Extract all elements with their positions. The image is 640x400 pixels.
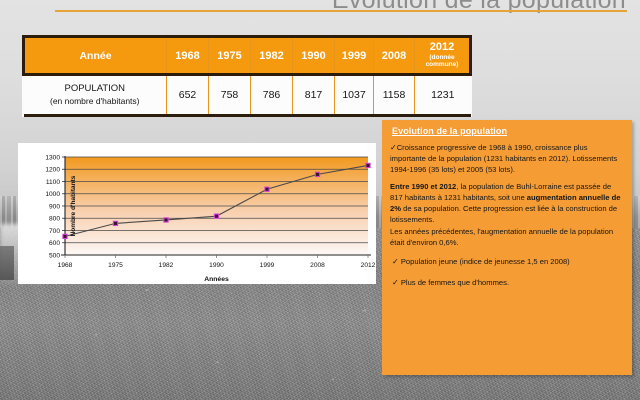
- y-tick-800: 800: [49, 216, 60, 223]
- header-cell-2012: 2012 (donnée commune): [415, 37, 471, 75]
- header-2012-note-2: commune): [415, 62, 469, 69]
- header-cell-1999: 1999: [335, 37, 374, 75]
- info-item-femmes-hommes-text: Plus de femmes que d'hommes.: [401, 278, 509, 287]
- info-item-croissance-text: Croissance progressive de 1968 à 1990, c…: [390, 143, 617, 174]
- slide-title-area: Evolution de la population: [0, 0, 640, 14]
- cell-value-2008: 1158: [374, 75, 415, 116]
- info-item-entre-1990-2012: Entre 1990 et 2012, la population de Buh…: [390, 182, 624, 225]
- cell-value-1975: 758: [209, 75, 251, 116]
- left-edge-artifact: [0, 246, 14, 280]
- x-tick-1975: 1975: [108, 262, 123, 269]
- y-tick-700: 700: [49, 228, 60, 235]
- info-item-population-jeune-text: Population jeune (indice de jeunesse 1,5…: [401, 257, 570, 266]
- data-point-1982: [164, 218, 168, 222]
- header-2012-note-1: (donnée: [415, 55, 469, 62]
- x-tick-1990: 1990: [209, 262, 224, 269]
- cell-value-1990: 817: [293, 75, 335, 116]
- x-tick-1982: 1982: [159, 262, 174, 269]
- data-point-1990: [214, 214, 218, 218]
- header-cell-1982: 1982: [251, 37, 293, 75]
- y-tick-900: 900: [49, 203, 60, 210]
- check-icon-3: ✓: [392, 278, 399, 287]
- info-text-2: de sa population. Cette progression est …: [390, 204, 617, 224]
- y-tick-1100: 1100: [46, 179, 61, 186]
- header-cell-1990: 1990: [293, 37, 335, 75]
- data-point-1999: [265, 187, 269, 191]
- header-cell-1968: 1968: [167, 37, 209, 75]
- x-tick-1968: 1968: [58, 262, 73, 269]
- data-point-1968: [63, 234, 67, 238]
- info-panel-title: Evolution de la population: [392, 126, 624, 136]
- info-item-femmes-hommes: ✓ Plus de femmes que d'hommes.: [390, 277, 624, 289]
- y-tick-1000: 1000: [45, 191, 60, 198]
- population-chart-panel: 5006007008009001000110012001300 19681975…: [18, 143, 376, 284]
- page-title: Evolution de la population: [332, 0, 626, 15]
- row-label-line1: POPULATION: [64, 83, 125, 94]
- chart-x-axis-label: Années: [204, 276, 229, 283]
- table-data-row: POPULATION (en nombre d'habitants) 652 7…: [24, 75, 471, 116]
- row-label-population: POPULATION (en nombre d'habitants): [24, 75, 167, 116]
- data-point-2012: [366, 163, 370, 167]
- population-table: Année 1968 1975 1982 1990 1999 2008 2012…: [22, 35, 472, 117]
- cell-value-2012: 1231: [415, 75, 471, 116]
- y-tick-1300: 1300: [45, 154, 60, 161]
- header-cell-2008: 2008: [374, 37, 415, 75]
- population-table-block: Année 1968 1975 1982 1990 1999 2008 2012…: [22, 35, 459, 117]
- info-item-population-jeune: ✓ Population jeune (indice de jeunesse 1…: [390, 256, 624, 268]
- cell-value-1999: 1037: [335, 75, 374, 116]
- cell-value-1968: 652: [167, 75, 209, 116]
- y-tick-600: 600: [49, 240, 60, 247]
- table-header-row: Année 1968 1975 1982 1990 1999 2008 2012…: [24, 37, 471, 75]
- info-item-annees-precedentes: Les années précédentes, l'augmentation a…: [390, 227, 624, 249]
- population-line-chart: 5006007008009001000110012001300 19681975…: [18, 143, 376, 284]
- y-tick-500: 500: [49, 252, 60, 259]
- chart-y-axis-label: Nombre d'habitants: [70, 175, 77, 236]
- info-item-croissance: ✓Croissance progressive de 1968 à 1990, …: [390, 142, 624, 175]
- title-underline-rule: [55, 10, 627, 12]
- header-2012-year: 2012: [430, 41, 454, 53]
- x-tick-2008: 2008: [310, 262, 325, 269]
- x-tick-1999: 1999: [260, 262, 275, 269]
- x-tick-2012: 2012: [361, 262, 376, 269]
- header-cell-1975: 1975: [209, 37, 251, 75]
- y-tick-1200: 1200: [45, 167, 60, 174]
- header-cell-annee: Année: [24, 37, 167, 75]
- data-point-2008: [315, 172, 319, 176]
- info-bold-lead: Entre 1990 et 2012: [390, 182, 456, 191]
- data-point-1975: [113, 221, 117, 225]
- cell-value-1982: 786: [251, 75, 293, 116]
- check-icon-2: ✓: [392, 257, 399, 266]
- check-icon: ✓: [390, 143, 397, 152]
- info-panel: Evolution de la population ✓Croissance p…: [382, 120, 632, 375]
- row-label-line2: (en nombre d'habitants): [24, 96, 167, 107]
